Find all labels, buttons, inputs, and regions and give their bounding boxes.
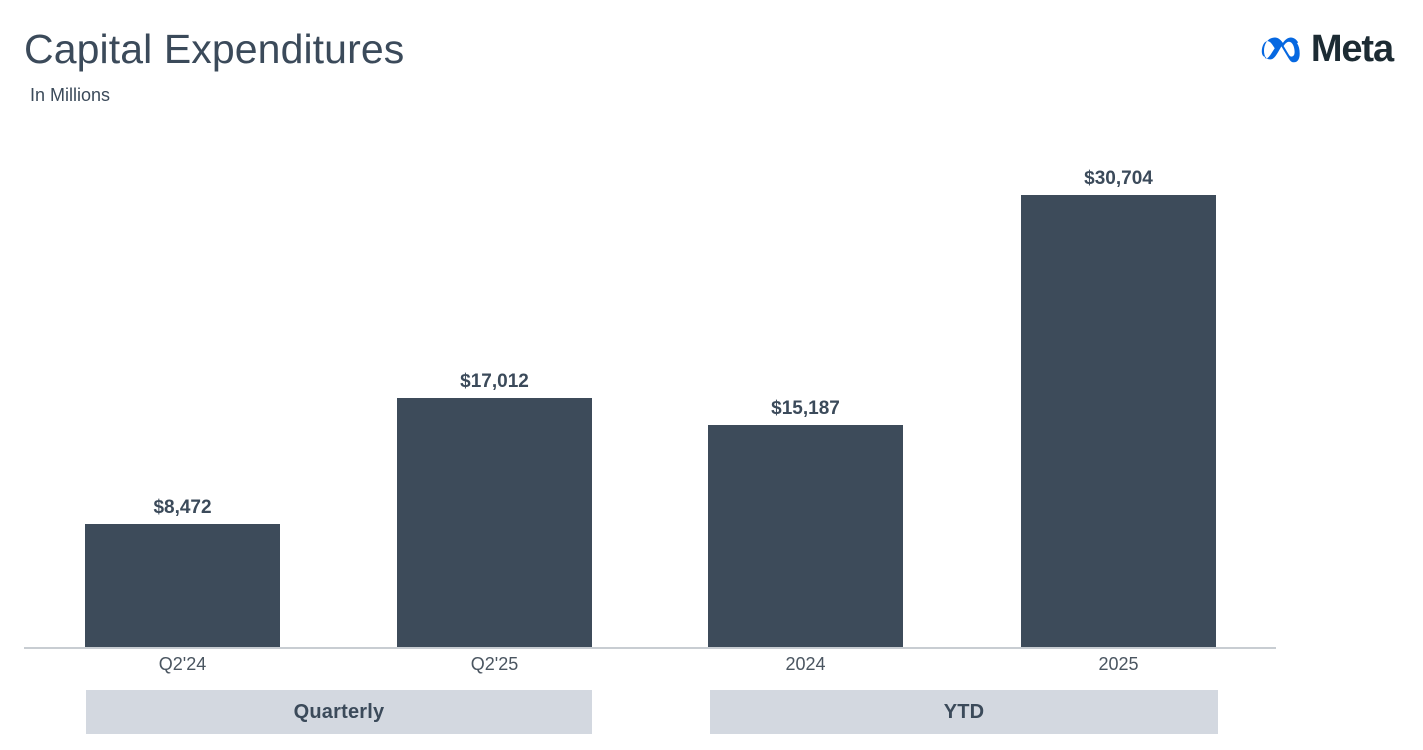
bar-value-label: $30,704 bbox=[1021, 168, 1216, 190]
x-tick-label-q225: Q2'25 bbox=[397, 654, 592, 675]
bar-value-label: $15,187 bbox=[708, 398, 903, 420]
group-band-quarterly: Quarterly bbox=[86, 690, 592, 734]
bar-value-label: $17,012 bbox=[397, 371, 592, 393]
x-axis-line bbox=[24, 647, 1276, 649]
bar-rect[interactable] bbox=[397, 398, 592, 648]
bar-chart: $8,472 Q2'24 $17,012 Q2'25 $15,187 2024 … bbox=[0, 0, 1423, 750]
group-band-label: YTD bbox=[944, 701, 985, 724]
bar-rect[interactable] bbox=[708, 425, 903, 648]
bar-rect[interactable] bbox=[85, 524, 280, 648]
x-tick-label-2025: 2025 bbox=[1021, 654, 1216, 675]
bar-value-label: $8,472 bbox=[85, 497, 280, 519]
x-tick-label-2024: 2024 bbox=[708, 654, 903, 675]
group-band-label: Quarterly bbox=[294, 701, 385, 724]
group-band-ytd: YTD bbox=[710, 690, 1218, 734]
x-tick-label-q224: Q2'24 bbox=[85, 654, 280, 675]
bar-rect[interactable] bbox=[1021, 195, 1216, 648]
